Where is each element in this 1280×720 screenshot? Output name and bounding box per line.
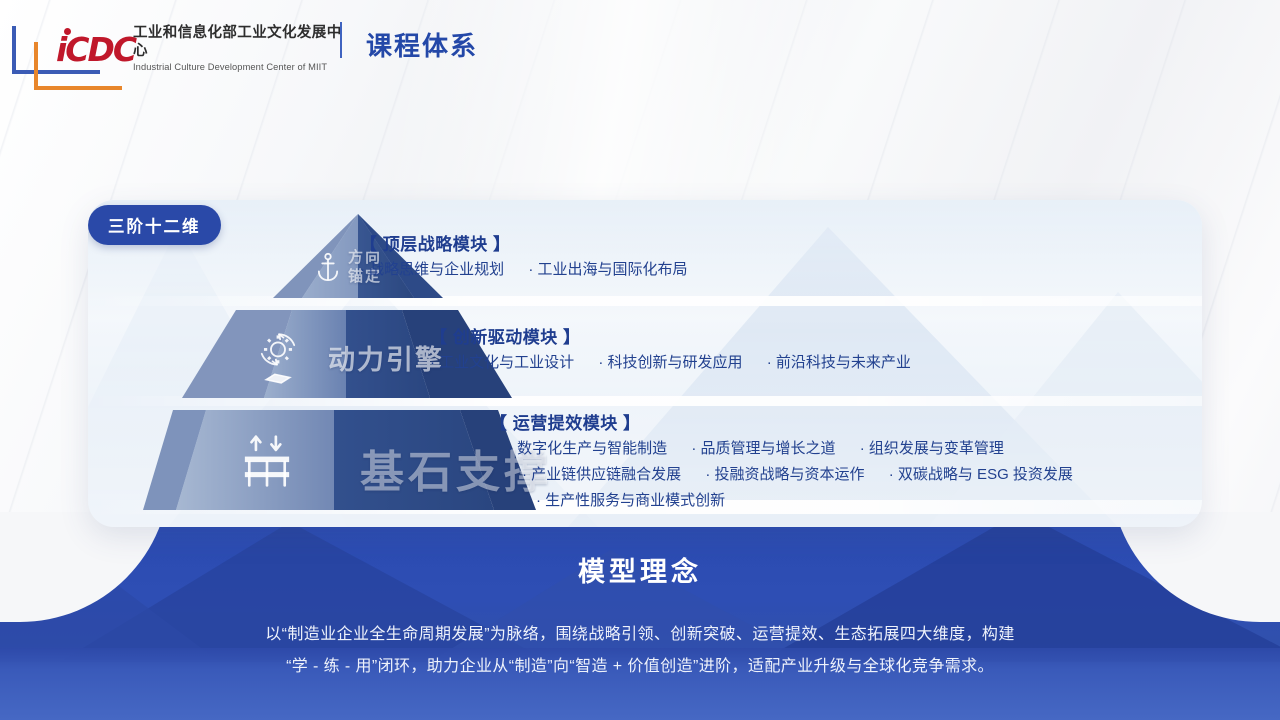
module-operations-line-1: · 数字化生产与智能制造 · 品质管理与增长之道 · 组织发展与变革管理 xyxy=(490,436,1093,462)
module-innovation-item-1: · 科技创新与研发应用 xyxy=(598,354,742,371)
tier-middle-label: 动力引擎 xyxy=(328,338,444,377)
module-top-item-1: · 工业出海与国际化布局 xyxy=(528,261,687,278)
header-divider xyxy=(340,22,342,58)
module-operations-item-3: · 产业链供应链融合发展 xyxy=(522,466,681,483)
module-top-items: · 战略思维与企业规划 · 工业出海与国际化布局 xyxy=(360,257,708,283)
module-innovation: 【 创新驱动模块 】 · 工业文化与工业设计 · 科技创新与研发应用 · 前沿科… xyxy=(430,326,931,376)
anchor-icon xyxy=(314,252,342,284)
module-operations-item-2: · 组织发展与变革管理 xyxy=(860,440,1004,457)
page-title: 课程体系 xyxy=(366,26,478,63)
page-header: iCDC 工业和信息化部工业文化发展中心 Industrial Culture … xyxy=(0,0,1280,88)
module-innovation-items: · 工业文化与工业设计 · 科技创新与研发应用 · 前沿科技与未来产业 xyxy=(430,350,931,376)
gear-cycle-icon xyxy=(256,330,300,384)
module-innovation-item-0: · 工业文化与工业设计 xyxy=(430,354,574,371)
model-concept-title: 模型理念 xyxy=(0,550,1280,589)
model-concept-line-1: 以“制造业企业全生命周期发展”为脉络，围绕战略引领、创新突破、运营提效、生态拓展… xyxy=(0,619,1280,651)
module-operations-line-2: · 产业链供应链融合发展 · 投融资战略与资本运作 · 双碳战略与 ESG 投资… xyxy=(490,462,1093,488)
organization-name-cn: 工业和信息化部工业文化发展中心 xyxy=(133,24,348,60)
model-concept-section: 模型理念 以“制造业企业全生命周期发展”为脉络，围绕战略引领、创新突破、运营提效… xyxy=(0,512,1280,720)
icdc-logo: iCDC xyxy=(12,14,142,76)
module-operations-item-0: · 数字化生产与智能制造 xyxy=(508,440,667,457)
pyramid-card: 三阶十二维 方向锚定 xyxy=(88,200,1202,527)
organization-name-en: Industrial Culture Development Center of… xyxy=(133,61,348,74)
module-top-item-0: · 战略思维与企业规划 xyxy=(360,261,504,278)
bottom-background xyxy=(0,512,1280,720)
module-top-strategy: 【 顶层战略模块 】 · 战略思维与企业规划 · 工业出海与国际化布局 xyxy=(360,233,708,283)
model-concept-line-2: “学 - 练 - 用”闭环，助力企业从“制造”向“智造 + 价值创造”进阶，适配… xyxy=(0,651,1280,683)
foundation-icon xyxy=(238,430,296,492)
module-operations-item-4: · 投融资战略与资本运作 xyxy=(705,466,864,483)
module-operations-title: 【 运营提效模块 】 xyxy=(490,412,1093,436)
logo-wordmark: iCDC xyxy=(56,30,135,69)
model-concept-body: 以“制造业企业全生命周期发展”为脉络，围绕战略引领、创新突破、运营提效、生态拓展… xyxy=(0,619,1280,683)
organization-name: 工业和信息化部工业文化发展中心 Industrial Culture Devel… xyxy=(133,24,348,74)
module-operations-line-3: · 生产性服务与商业模式创新 xyxy=(490,488,1093,514)
module-operations-item-6: · 生产性服务与商业模式创新 xyxy=(536,492,725,509)
module-operations-item-1: · 品质管理与增长之道 xyxy=(691,440,835,457)
module-operations-item-5: · 双碳战略与 ESG 投资发展 xyxy=(889,466,1073,483)
module-innovation-title: 【 创新驱动模块 】 xyxy=(430,326,931,350)
badge-three-tier: 三阶十二维 xyxy=(88,205,221,245)
module-top-title: 【 顶层战略模块 】 xyxy=(360,233,708,257)
module-innovation-item-2: · 前沿科技与未来产业 xyxy=(767,354,911,371)
module-operations: 【 运营提效模块 】 · 数字化生产与智能制造 · 品质管理与增长之道 · 组织… xyxy=(490,412,1093,514)
